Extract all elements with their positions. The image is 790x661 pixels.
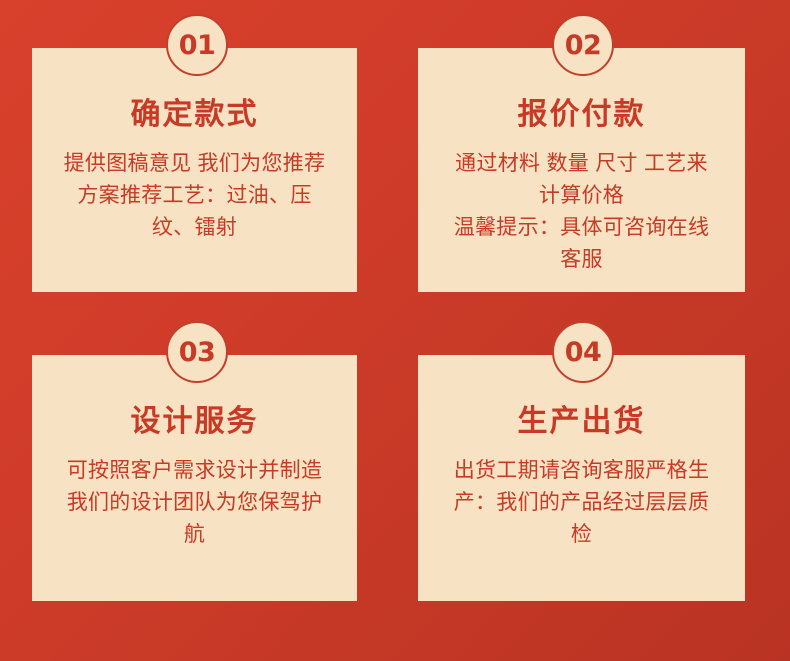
step-number: 03: [179, 339, 216, 366]
step-description: 提供图稿意见 我们为您推荐方案推荐工艺：过油、压纹、镭射: [61, 148, 329, 244]
step-card-04: 生产出货 出货工期请咨询客服严格生产：我们的产品经过层层质检: [418, 355, 745, 601]
step-title: 确定款式: [131, 100, 259, 130]
step-number: 02: [565, 32, 602, 59]
step-title: 设计服务: [131, 407, 259, 437]
step-number-badge-02: 02: [552, 14, 614, 76]
step-description: 通过材料 数量 尺寸 工艺来计算价格 温馨提示：具体可咨询在线客服: [446, 148, 718, 276]
steps-grid: 确定款式 提供图稿意见 我们为您推荐方案推荐工艺：过油、压纹、镭射 报价付款 通…: [0, 0, 790, 661]
step-description-line: 提供图稿意见 我们为您推荐方案推荐工艺：过油、压纹、镭射: [61, 148, 329, 244]
process-steps-banner: 确定款式 提供图稿意见 我们为您推荐方案推荐工艺：过油、压纹、镭射 报价付款 通…: [0, 0, 790, 661]
step-description-line: 通过材料 数量 尺寸 工艺来计算价格: [446, 148, 718, 212]
step-description-line: 可按照客户需求设计并制造我们的设计团队为您保驾护航: [61, 455, 329, 551]
step-card-03: 设计服务 可按照客户需求设计并制造我们的设计团队为您保驾护航: [32, 355, 357, 601]
step-title: 报价付款: [518, 100, 646, 130]
step-description-line: 温馨提示：具体可咨询在线客服: [446, 212, 718, 276]
step-number-badge-04: 04: [552, 321, 614, 383]
step-number: 01: [179, 32, 216, 59]
step-number-badge-03: 03: [166, 321, 228, 383]
step-description: 出货工期请咨询客服严格生产：我们的产品经过层层质检: [446, 455, 718, 551]
step-description: 可按照客户需求设计并制造我们的设计团队为您保驾护航: [61, 455, 329, 551]
step-card-01: 确定款式 提供图稿意见 我们为您推荐方案推荐工艺：过油、压纹、镭射: [32, 48, 357, 292]
step-card-02: 报价付款 通过材料 数量 尺寸 工艺来计算价格 温馨提示：具体可咨询在线客服: [418, 48, 745, 292]
step-title: 生产出货: [518, 407, 646, 437]
step-description-line: 出货工期请咨询客服严格生产：我们的产品经过层层质检: [446, 455, 718, 551]
step-number-badge-01: 01: [166, 14, 228, 76]
step-number: 04: [565, 339, 602, 366]
